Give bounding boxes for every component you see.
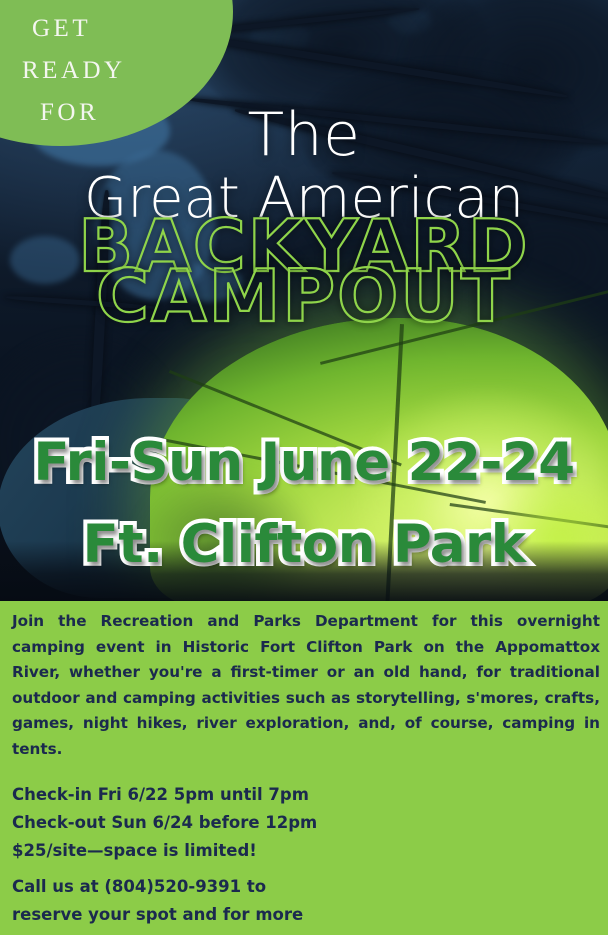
title-line-campout: CAMPOUT bbox=[0, 258, 608, 334]
price-line: $25/site—space is limited! bbox=[12, 837, 332, 865]
event-description: Join the Recreation and Parks Department… bbox=[12, 609, 600, 762]
badge-line-1: GET bbox=[18, 8, 203, 50]
checkout-line: Check-out Sun 6/24 before 12pm bbox=[12, 809, 332, 837]
title-line-the: The bbox=[0, 104, 608, 166]
event-dates-text: Fri-Sun June 22-24 bbox=[33, 432, 574, 493]
contact-block: Call us at (804)520-9391 to reserve your… bbox=[12, 873, 337, 935]
night-camping-photo: GET READY FOR The Great American BACKYAR… bbox=[0, 0, 608, 601]
event-location-text: Ft. Clifton Park bbox=[83, 514, 526, 575]
event-dates: Fri-Sun June 22-24 bbox=[0, 432, 608, 493]
checkin-line: Check-in Fri 6/22 5pm until 7pm bbox=[12, 781, 332, 809]
poster: GET READY FOR The Great American BACKYAR… bbox=[0, 0, 608, 935]
badge-line-2: READY bbox=[18, 50, 203, 92]
event-location: Ft. Clifton Park bbox=[0, 514, 608, 575]
info-panel: Join the Recreation and Parks Department… bbox=[0, 601, 608, 935]
logistics-block: Check-in Fri 6/22 5pm until 7pm Check-ou… bbox=[12, 781, 332, 865]
